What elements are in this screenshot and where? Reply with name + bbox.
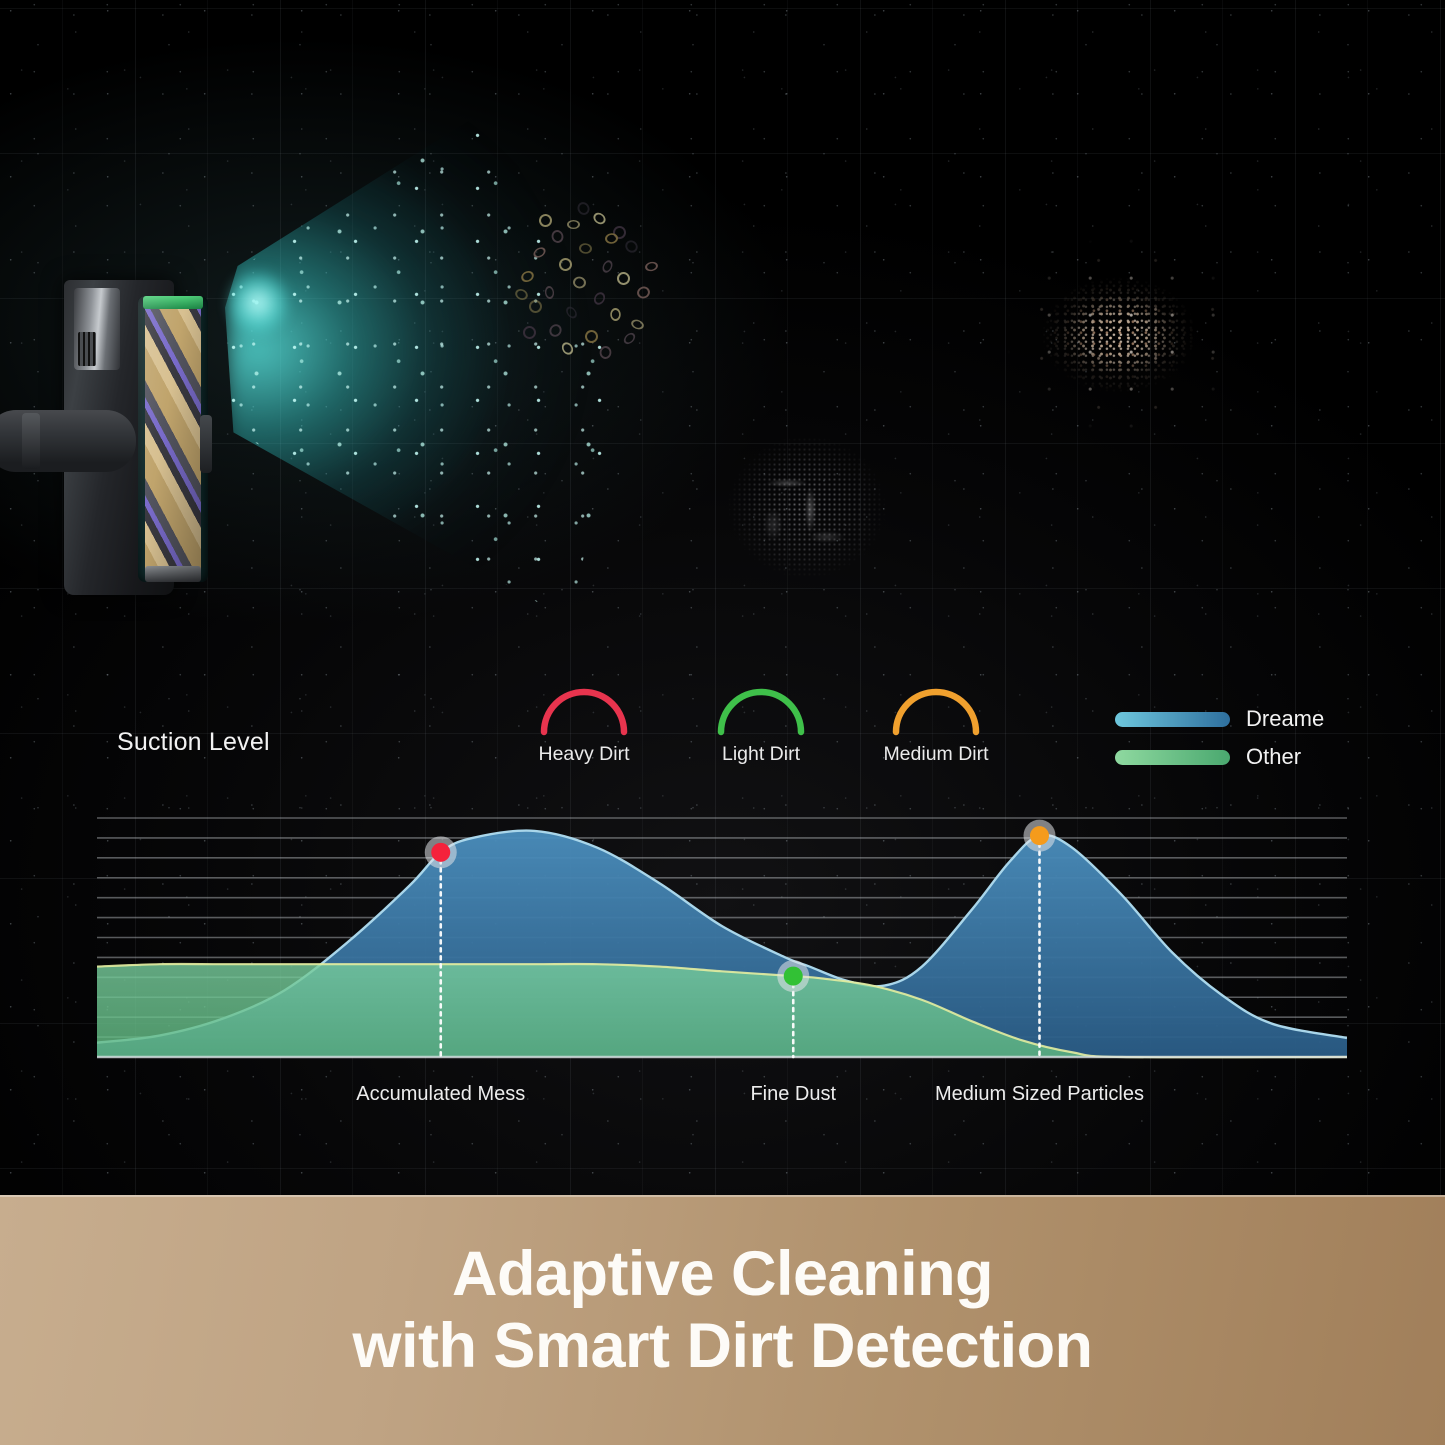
x-label-accumulated-mess: Accumulated Mess <box>356 1083 525 1106</box>
gauge-label: Heavy Dirt <box>499 743 669 766</box>
gauge-label: Light Dirt <box>676 743 846 766</box>
debris-loop <box>564 305 579 321</box>
debris-loop <box>575 200 591 217</box>
cereal-loops-debris-cluster <box>505 200 675 360</box>
debris-loop <box>558 257 573 272</box>
legend-label: Other <box>1246 744 1301 770</box>
vacuum-floor-head <box>0 280 236 595</box>
debris-loop <box>604 233 618 245</box>
debris-loop <box>519 269 535 284</box>
gauge-light-dirt[interactable]: Light Dirt <box>676 690 846 766</box>
debris-loop <box>610 308 621 321</box>
vacuum-vent-icon <box>78 332 96 366</box>
legend-swatch-other <box>1115 750 1230 765</box>
debris-loop <box>644 261 659 273</box>
debris-loop <box>532 245 548 260</box>
debris-loop <box>592 290 608 306</box>
debris-loop <box>599 346 612 360</box>
vacuum-neck-joint <box>0 410 136 472</box>
debris-loop <box>635 285 651 301</box>
debris-loop <box>550 229 565 245</box>
banner-headline-line2: with Smart Dirt Detection <box>0 1311 1445 1383</box>
chart-svg <box>97 805 1347 1067</box>
debris-loop <box>591 210 608 226</box>
medium-particles-cluster <box>1025 270 1205 400</box>
debris-loop <box>567 220 580 229</box>
legend-item-other[interactable]: Other <box>1115 738 1355 776</box>
dirt-type-gauges: Heavy Dirt Light Dirt Medium Dirt <box>520 690 1040 785</box>
debris-loop <box>583 328 599 344</box>
debris-loop <box>630 318 645 331</box>
vacuum-neck-collar <box>22 413 40 469</box>
chart-legend: Dreame Other <box>1115 700 1355 776</box>
gauge-medium-dirt[interactable]: Medium Dirt <box>851 690 1021 766</box>
debris-loop <box>513 287 529 302</box>
arc-gauge-icon <box>676 690 846 736</box>
suction-area-chart <box>97 805 1347 1067</box>
debris-loop <box>544 286 554 300</box>
vacuum-latch <box>200 415 212 473</box>
promo-infographic: Suction Level Heavy Dirt Light Dirt <box>0 0 1445 1445</box>
roller-cover-glass <box>138 296 208 582</box>
debris-loop <box>520 323 538 341</box>
banner-headline-line1: Adaptive Cleaning <box>452 1239 993 1309</box>
debris-loop <box>538 213 553 228</box>
chart-x-axis-labels: Accumulated Mess Fine Dust Medium Sized … <box>0 1083 1445 1113</box>
debris-loop <box>623 238 640 255</box>
fine-dust-cloud <box>722 432 892 582</box>
banner-headline: Adaptive Cleaning with Smart Dirt Detect… <box>0 1195 1445 1383</box>
gauge-label: Medium Dirt <box>851 743 1021 766</box>
beam-core-glow <box>228 268 288 338</box>
x-label-medium-sized-particles: Medium Sized Particles <box>935 1083 1144 1106</box>
chart-axis-title: Suction Level <box>117 728 270 757</box>
debris-loop <box>572 276 587 290</box>
gauge-heavy-dirt[interactable]: Heavy Dirt <box>499 690 669 766</box>
debris-loop <box>560 340 576 357</box>
debris-loop <box>579 243 593 254</box>
arc-gauge-icon <box>499 690 669 736</box>
debris-loop <box>528 299 544 315</box>
debris-loop <box>547 322 564 339</box>
legend-item-dreame[interactable]: Dreame <box>1115 700 1355 738</box>
bottom-banner: Adaptive Cleaning with Smart Dirt Detect… <box>0 1195 1445 1445</box>
vacuum-roller-brush <box>138 296 208 582</box>
debris-loop <box>622 331 638 347</box>
legend-swatch-dreame <box>1115 712 1230 727</box>
x-label-fine-dust: Fine Dust <box>750 1083 836 1106</box>
banner-top-divider <box>0 1195 1445 1197</box>
debris-loop <box>601 259 615 275</box>
arc-gauge-icon <box>851 690 1021 736</box>
debris-loop <box>614 269 632 287</box>
legend-label: Dreame <box>1246 706 1324 732</box>
